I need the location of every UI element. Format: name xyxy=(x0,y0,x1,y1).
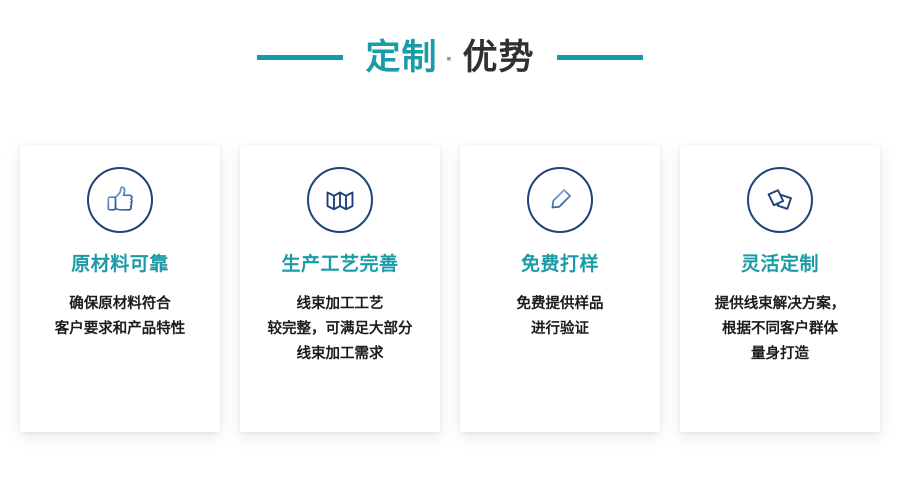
description-line: 量身打造 xyxy=(715,342,846,367)
feature-card-title: 生产工艺完善 xyxy=(281,255,398,274)
heading-rule-left xyxy=(257,55,343,60)
feature-card-description: 提供线束解决方案， 根据不同客户群体 量身打造 xyxy=(709,292,852,367)
stacked-cards-icon xyxy=(747,167,813,233)
thumbs-up-icon xyxy=(87,167,153,233)
feature-card-production-process[interactable]: 生产工艺完善 线束加工工艺 较完整，可满足大部分 线束加工需求 xyxy=(240,145,440,432)
page-title: 定制 · 优势 xyxy=(365,40,534,75)
page-title-accent: 定制 xyxy=(365,40,437,75)
feature-card-raw-material[interactable]: 原材料可靠 确保原材料符合 客户要求和产品特性 xyxy=(20,145,220,432)
description-line: 免费提供样品 xyxy=(517,292,604,317)
description-line: 根据不同客户群体 xyxy=(715,317,846,342)
description-line: 提供线束解决方案， xyxy=(715,292,846,317)
description-line: 客户要求和产品特性 xyxy=(55,317,186,342)
description-line: 线束加工工艺 xyxy=(268,292,413,317)
description-line: 线束加工需求 xyxy=(268,342,413,367)
feature-card-list: 原材料可靠 确保原材料符合 客户要求和产品特性 生产工艺完善 线束加工工艺 较完… xyxy=(0,145,900,445)
pencil-icon xyxy=(527,167,593,233)
description-line: 确保原材料符合 xyxy=(55,292,186,317)
page-title-separator: · xyxy=(440,48,461,72)
feature-card-title: 灵活定制 xyxy=(741,255,819,274)
heading-rule-right xyxy=(557,55,643,60)
description-line: 较完整，可满足大部分 xyxy=(268,317,413,342)
feature-card-title: 免费打样 xyxy=(521,255,599,274)
description-line: 进行验证 xyxy=(517,317,604,342)
feature-card-description: 免费提供样品 进行验证 xyxy=(511,292,610,342)
page-title-main: 优势 xyxy=(463,40,535,75)
feature-card-free-sample[interactable]: 免费打样 免费提供样品 进行验证 xyxy=(460,145,660,432)
section-header: 定制 · 优势 xyxy=(0,0,900,100)
feature-card-flexible-customization[interactable]: 灵活定制 提供线束解决方案， 根据不同客户群体 量身打造 xyxy=(680,145,880,432)
feature-card-description: 线束加工工艺 较完整，可满足大部分 线束加工需求 xyxy=(262,292,419,367)
folded-map-icon xyxy=(307,167,373,233)
feature-card-description: 确保原材料符合 客户要求和产品特性 xyxy=(49,292,192,342)
feature-card-title: 原材料可靠 xyxy=(71,255,169,274)
